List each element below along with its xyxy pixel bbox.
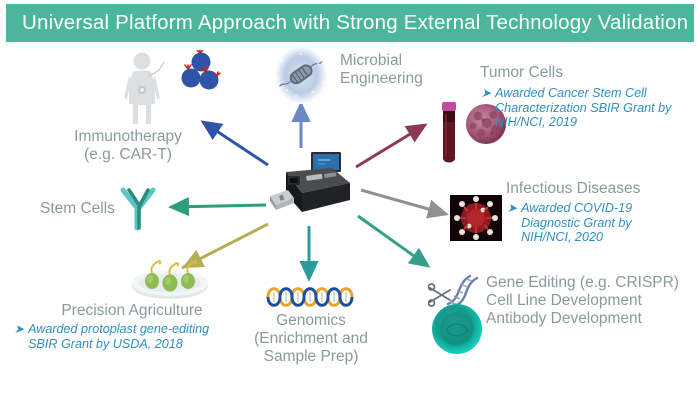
node-label-genomics: Genomics (Enrichment and Sample Prep) — [238, 312, 384, 366]
arrow-to-immunotherapy — [203, 122, 268, 165]
arrow-to-gene-editing — [358, 216, 428, 266]
human-silhouette-car-t-icon — [120, 50, 182, 128]
arrow-to-tumor-cells — [356, 125, 425, 167]
lab-instrument-image — [262, 150, 354, 220]
bullet-arrow-icon: ➤ — [481, 86, 491, 101]
node-label-microbial-engineering: Microbial Engineering — [340, 52, 470, 88]
node-label-stem-cells: Stem Cells — [40, 200, 130, 218]
grant-tumor-cells: ➤ Awarded Cancer Stem Cell Characterizat… — [481, 86, 696, 130]
dna-double-helix-icon — [266, 284, 360, 310]
cell-colony-icon — [428, 300, 486, 358]
arrow-to-infectious-diseases — [361, 190, 446, 214]
grant-text: Awarded Cancer Stem Cell Characterizatio… — [495, 86, 671, 130]
node-label-precision-agriculture: Precision Agriculture — [22, 302, 242, 320]
node-label-gene-editing: Gene Editing (e.g. CRISPR) Cell Line Dev… — [486, 274, 700, 328]
node-label-infectious-diseases: Infectious Diseases — [506, 180, 696, 198]
arrow-to-stem-cells — [171, 205, 266, 207]
bacterium-icon — [268, 44, 334, 106]
grant-precision-agriculture: ➤ Awarded protoplast gene-editing SBIR G… — [14, 322, 254, 351]
node-label-tumor-cells: Tumor Cells — [480, 64, 690, 82]
node-label-immunotherapy: Immunotherapy (e.g. CAR-T) — [48, 128, 208, 164]
grant-infectious-diseases: ➤ Awarded COVID-19 Diagnostic Grant by N… — [507, 201, 697, 245]
virus-particle-icon — [450, 195, 502, 241]
petri-dish-plantlets-icon — [128, 254, 212, 302]
blood-tube-icon — [434, 100, 464, 172]
grant-text: Awarded COVID-19 Diagnostic Grant by NIH… — [521, 201, 632, 245]
bullet-arrow-icon: ➤ — [14, 322, 24, 337]
car-t-cells-icon — [176, 50, 226, 96]
bullet-arrow-icon: ➤ — [507, 201, 517, 216]
grant-text: Awarded protoplast gene-editing SBIR Gra… — [28, 322, 209, 351]
slide-canvas: Universal Platform Approach with Strong … — [0, 0, 700, 420]
